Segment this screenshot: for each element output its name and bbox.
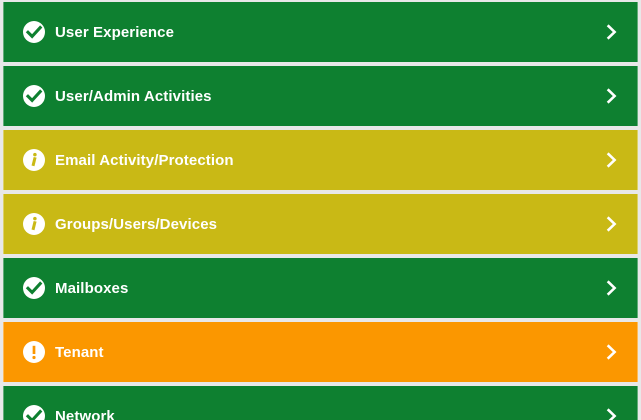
status-row[interactable]: Email Activity/Protection <box>3 130 638 190</box>
chevron-right-icon[interactable] <box>605 406 619 420</box>
status-row-label: Tenant <box>55 344 605 361</box>
status-row[interactable]: User Experience <box>3 2 638 62</box>
chevron-right-icon[interactable] <box>605 278 619 298</box>
status-row-label: Mailboxes <box>55 280 605 297</box>
chevron-right-icon[interactable] <box>605 22 619 42</box>
info-circle-icon <box>23 149 45 171</box>
status-row-label: User Experience <box>55 24 605 41</box>
chevron-right-icon[interactable] <box>605 86 619 106</box>
check-circle-icon <box>23 85 45 107</box>
status-row[interactable]: Tenant <box>3 322 638 382</box>
chevron-right-icon[interactable] <box>605 342 619 362</box>
status-row-label: Network <box>55 408 605 420</box>
status-row[interactable]: Network <box>3 386 638 420</box>
info-circle-icon <box>23 213 45 235</box>
exclamation-circle-icon <box>23 341 45 363</box>
status-row-label: User/Admin Activities <box>55 88 605 105</box>
status-row[interactable]: Groups/Users/Devices <box>3 194 638 254</box>
check-circle-icon <box>23 21 45 43</box>
status-row-label: Groups/Users/Devices <box>55 216 605 233</box>
chevron-right-icon[interactable] <box>605 150 619 170</box>
check-circle-icon <box>23 277 45 299</box>
status-row-label: Email Activity/Protection <box>55 152 605 169</box>
chevron-right-icon[interactable] <box>605 214 619 234</box>
status-list: User ExperienceUser/Admin ActivitiesEmai… <box>0 0 641 420</box>
status-row[interactable]: Mailboxes <box>3 258 638 318</box>
status-row[interactable]: User/Admin Activities <box>3 66 638 126</box>
check-circle-icon <box>23 405 45 420</box>
